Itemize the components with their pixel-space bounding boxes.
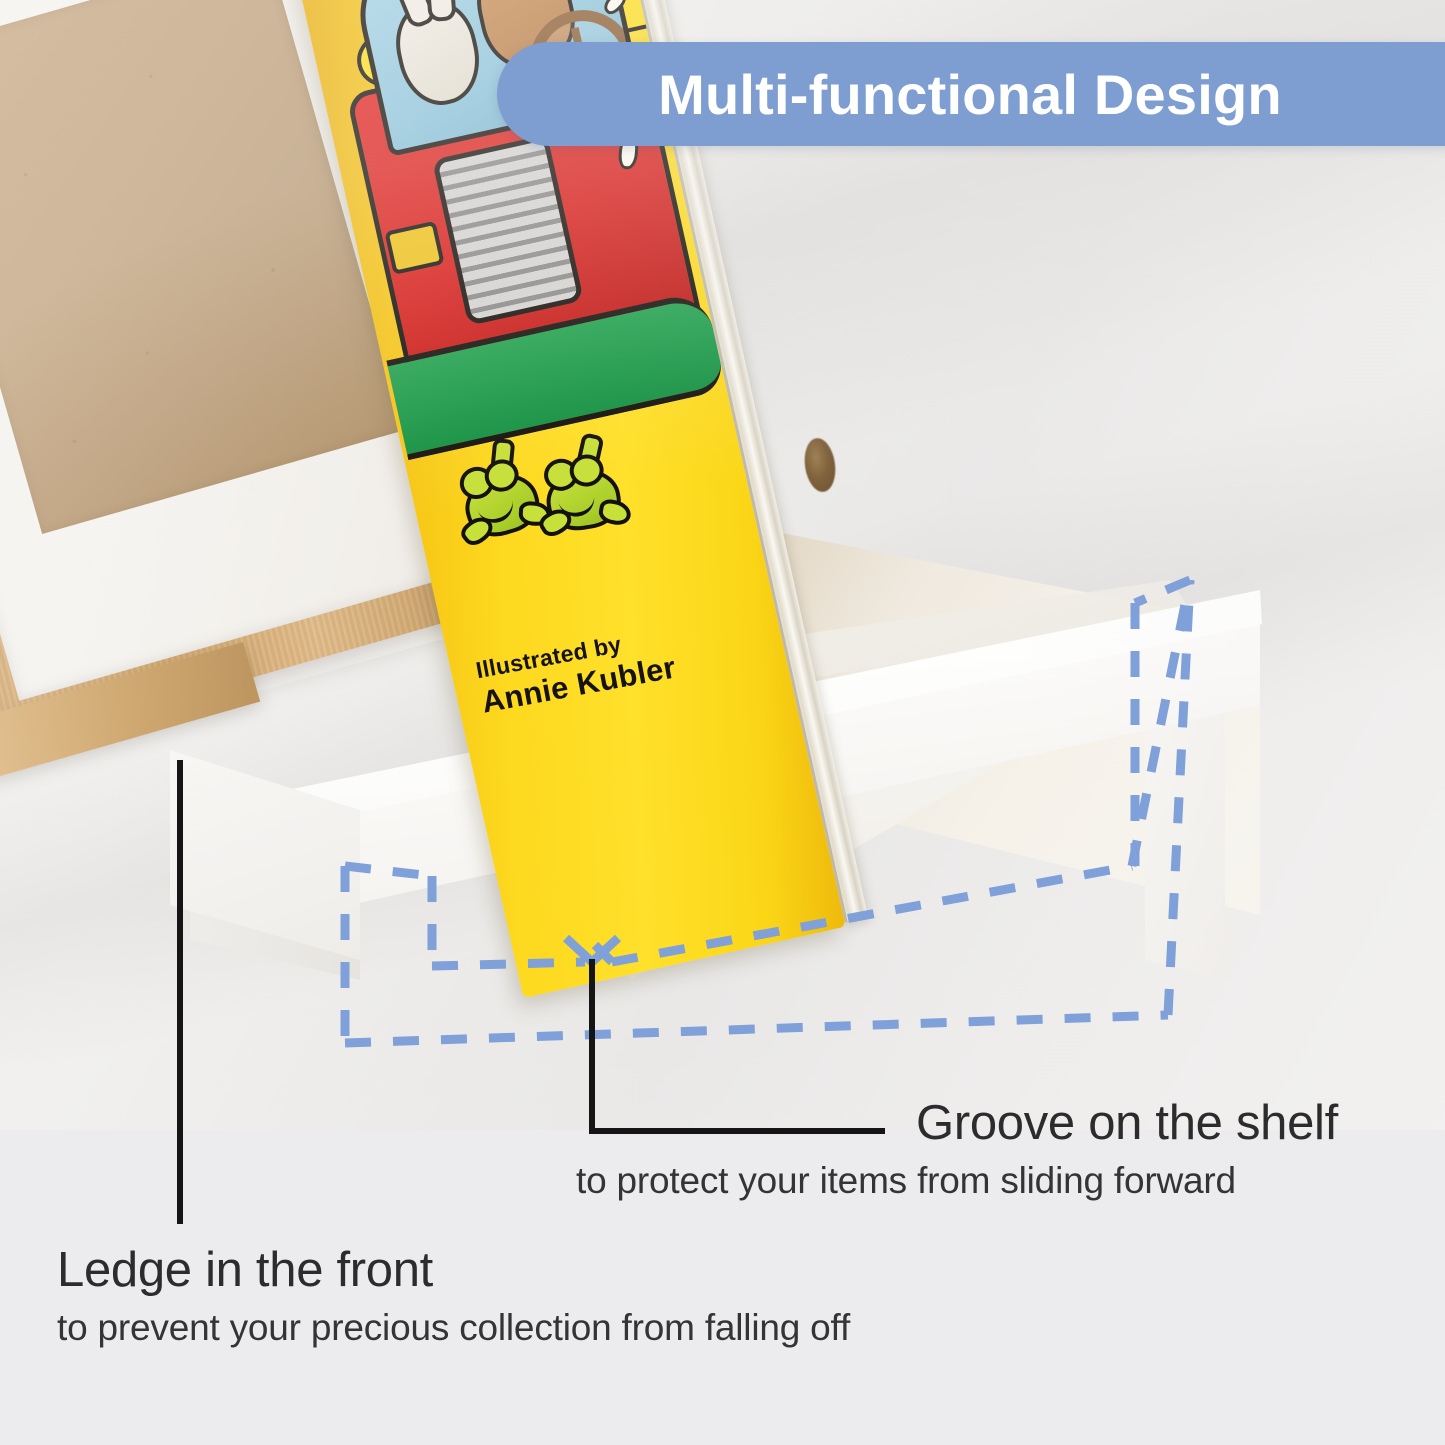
bunny-passenger <box>388 0 489 113</box>
callout-groove-heading: Groove on the shelf <box>916 1098 1338 1149</box>
frog-icon <box>533 446 622 532</box>
callout-ledge-heading: Ledge in the front <box>57 1245 850 1296</box>
callout-ledge-subtext: to prevent your precious collection from… <box>57 1308 850 1349</box>
callout-groove: Groove on the shelf to protect your item… <box>916 1098 1338 1202</box>
product-photo: Illustrated by Annie Kubler <box>0 0 1445 1130</box>
infographic-canvas: Illustrated by Annie Kubler <box>0 0 1445 1445</box>
title-banner: Multi-functional Design <box>497 42 1445 146</box>
frog-icon <box>447 449 543 542</box>
callout-groove-subtext: to protect your items from sliding forwa… <box>576 1161 1338 1202</box>
banner-title: Multi-functional Design <box>658 62 1296 127</box>
book-credit: Illustrated by Annie Kubler <box>474 615 712 722</box>
callout-ledge: Ledge in the front to prevent your preci… <box>57 1245 850 1349</box>
